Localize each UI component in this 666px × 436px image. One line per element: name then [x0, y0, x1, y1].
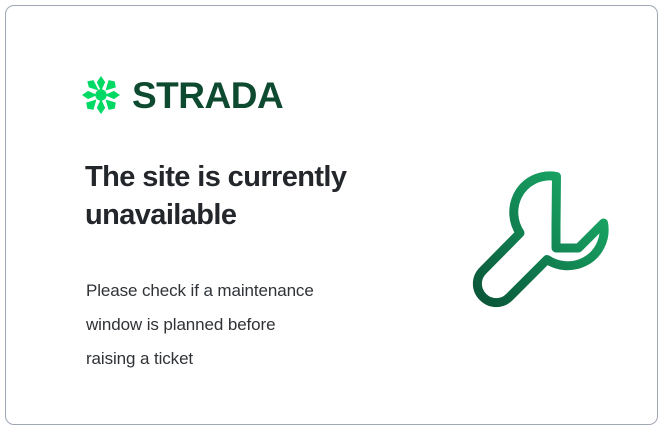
- description-line: window is planned before: [86, 308, 416, 342]
- status-card: STRADA The site is currently unavailable…: [5, 5, 658, 425]
- wrench-icon: [461, 158, 621, 318]
- brand-logo: STRADA: [82, 76, 283, 114]
- asterisk-star-icon: [82, 76, 120, 114]
- brand-wordmark: STRADA: [132, 77, 283, 114]
- description-line: raising a ticket: [86, 342, 416, 376]
- description-line: Please check if a maintenance: [86, 274, 416, 308]
- error-page: STRADA The site is currently unavailable…: [0, 0, 666, 436]
- page-description: Please check if a maintenance window is …: [86, 274, 416, 376]
- page-title: The site is currently unavailable: [85, 158, 425, 235]
